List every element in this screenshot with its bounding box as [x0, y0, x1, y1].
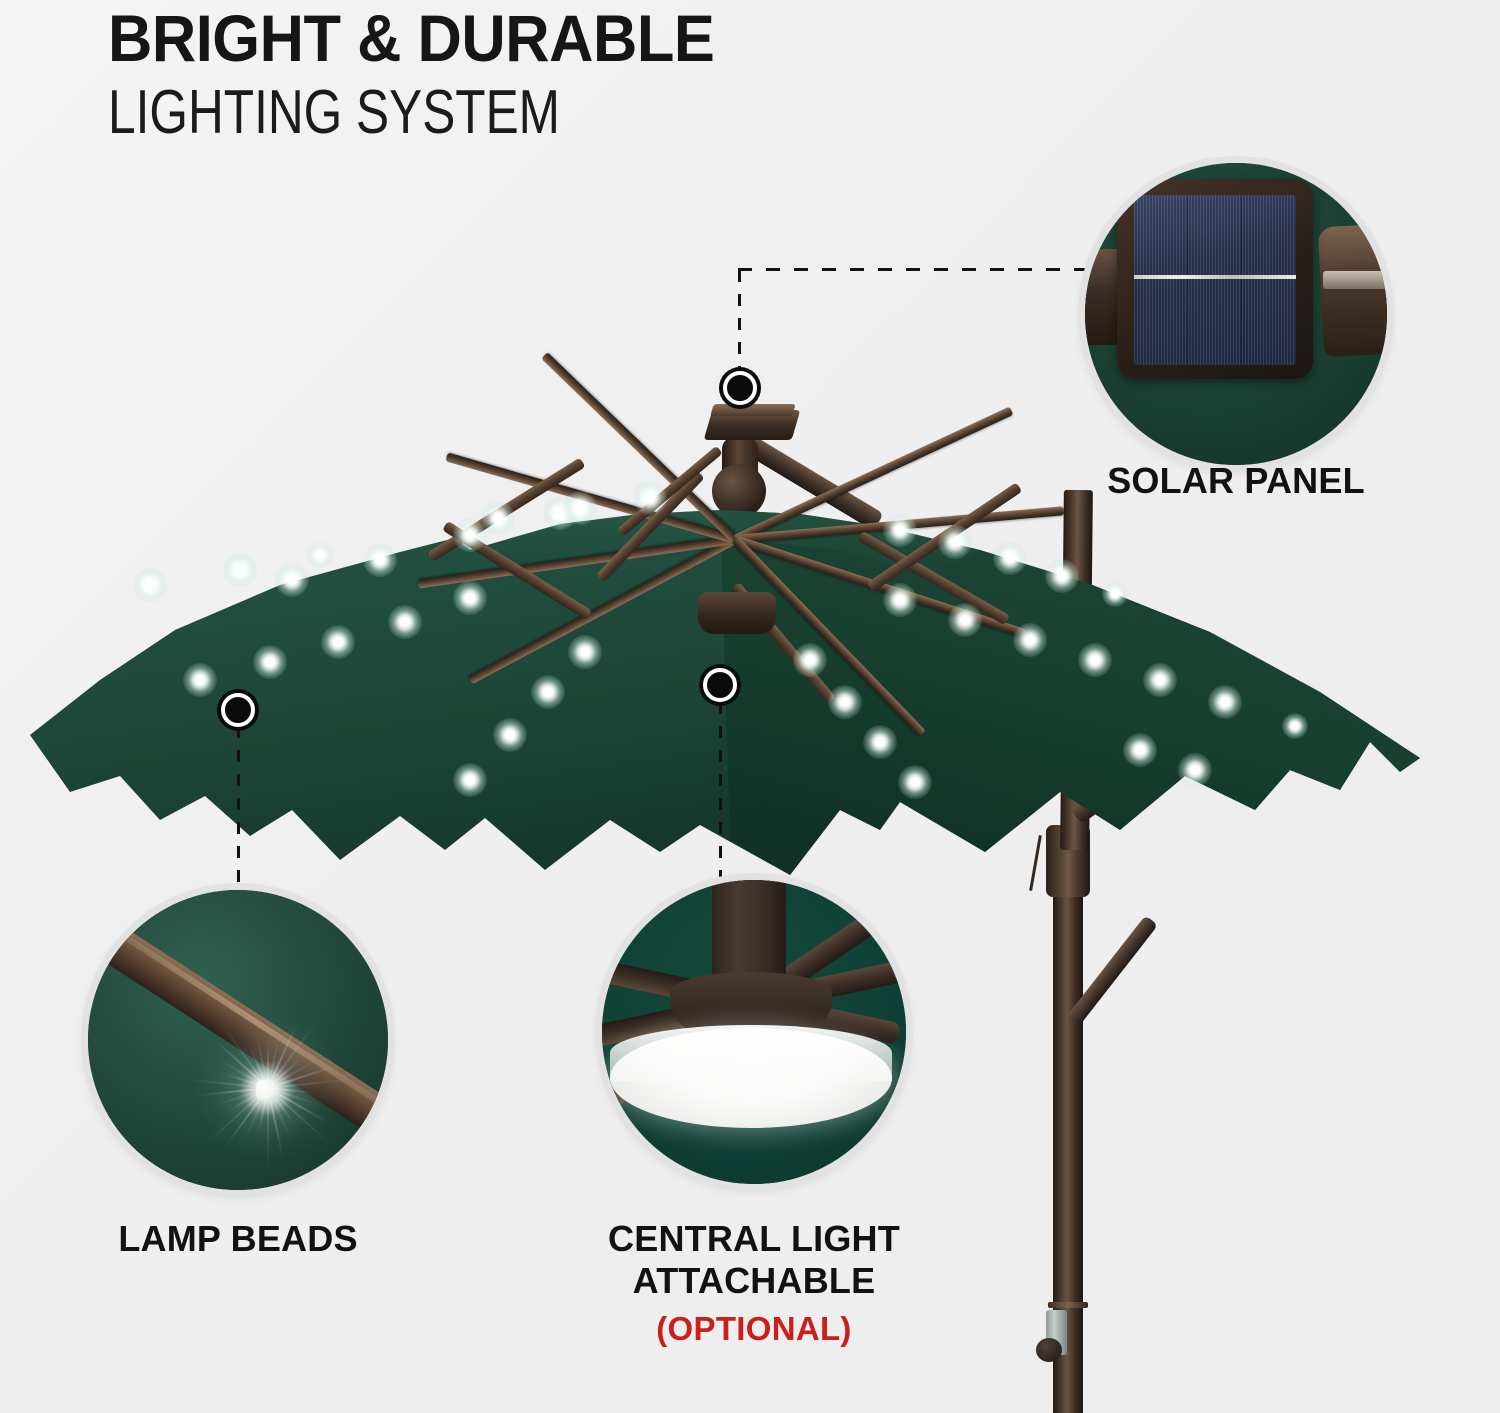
- solar-busbar: [1134, 275, 1296, 279]
- solar-mount-arm-right: [1318, 223, 1387, 357]
- lamp-bead-icon: [256, 1080, 276, 1101]
- leader-line-beads: [237, 726, 240, 894]
- callout-label-optional: (OPTIONAL): [588, 1308, 920, 1350]
- solar-panel-frame: [1117, 179, 1313, 379]
- callout-label-central-light: CENTRAL LIGHT ATTACHABLE (OPTIONAL): [588, 1218, 920, 1350]
- callout-marker-solar[interactable]: [723, 371, 757, 405]
- callout-label-lamp-beads: LAMP BEADS: [88, 1218, 388, 1260]
- callout-label-central-text: CENTRAL LIGHT ATTACHABLE: [608, 1218, 900, 1301]
- callout-label-solar-panel: SOLAR PANEL: [1090, 460, 1382, 502]
- leader-line-central: [719, 702, 722, 882]
- solar-panel-head-top: [710, 404, 795, 416]
- callout-marker-beads[interactable]: [221, 693, 255, 727]
- page-title: BRIGHT & DURABLE LIGHTING SYSTEM: [108, 0, 760, 150]
- pole-band: [1048, 1302, 1088, 1308]
- headline-primary: BRIGHT & DURABLE: [108, 0, 714, 76]
- callout-circle-lamp-beads[interactable]: [88, 890, 388, 1190]
- solar-mount-bracket: [1323, 271, 1387, 289]
- callout-circle-solar-panel[interactable]: [1085, 163, 1387, 465]
- infographic-canvas: BRIGHT & DURABLE LIGHTING SYSTEM: [0, 0, 1500, 1413]
- leader-line-solar-vertical: [738, 270, 741, 370]
- headline-secondary: LIGHTING SYSTEM: [108, 76, 630, 150]
- central-light-rim: [610, 1025, 892, 1081]
- callout-circle-central-light[interactable]: [602, 880, 906, 1184]
- leader-line-solar-horizontal: [738, 268, 1108, 271]
- pole-knob-icon: [1036, 1338, 1062, 1362]
- solar-panel-icon: [1134, 195, 1296, 365]
- callout-marker-central[interactable]: [703, 668, 737, 702]
- canopy-hub: [698, 592, 776, 634]
